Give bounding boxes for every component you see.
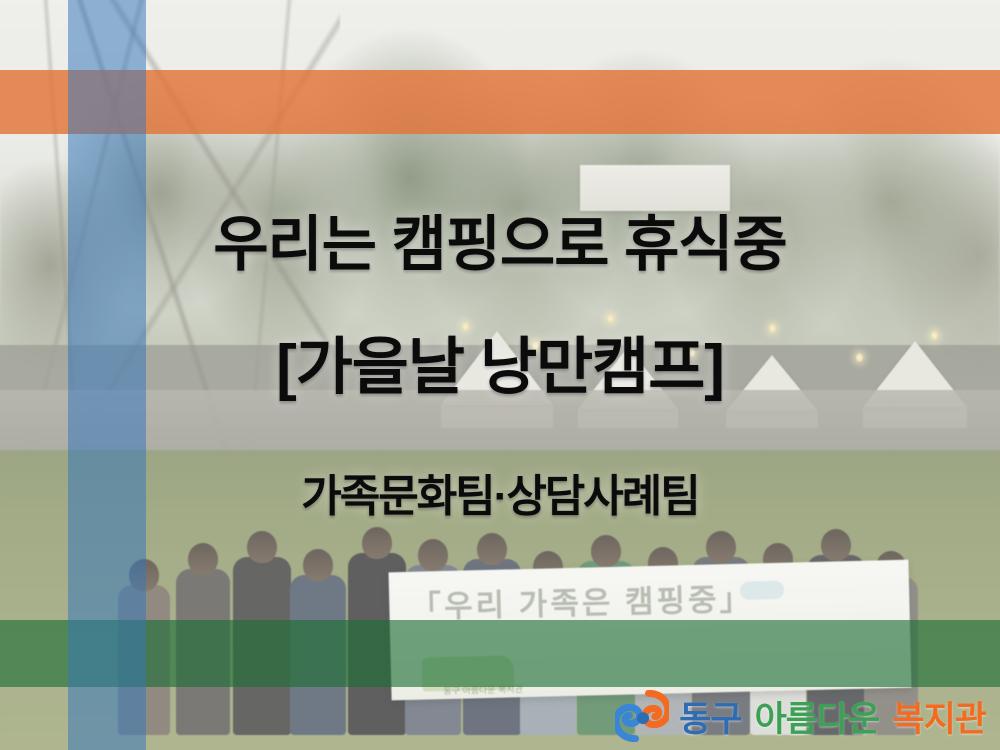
subtitle-teams: 가족문화팀·상담사례팀 [0,460,1000,524]
logo-word-bokjigwan: 복지관 [892,691,986,742]
presentation-slide: 「우리 가족은 캠핑중」 동구 아름다운 복지관 우리는 캠핑으로 휴식중 [가… [0,0,1000,750]
organization-logo: 동구 아름다운 복지관 [615,690,986,742]
headline-group: 우리는 캠핑으로 휴식중 [가을날 낭만캠프] 가족문화팀·상담사례팀 [0,0,1000,750]
title-line-2: [가을날 낭만캠프] [0,316,1000,406]
logo-wordmark: 동구 아름다운 복지관 [679,691,986,742]
logo-word-dongu: 동구 [679,691,741,742]
dongu-swirl-logo-icon [615,690,669,742]
logo-word-areumdaun: 아름다운 [755,691,880,742]
title-line-1: 우리는 캠핑으로 휴식중 [0,196,1000,283]
